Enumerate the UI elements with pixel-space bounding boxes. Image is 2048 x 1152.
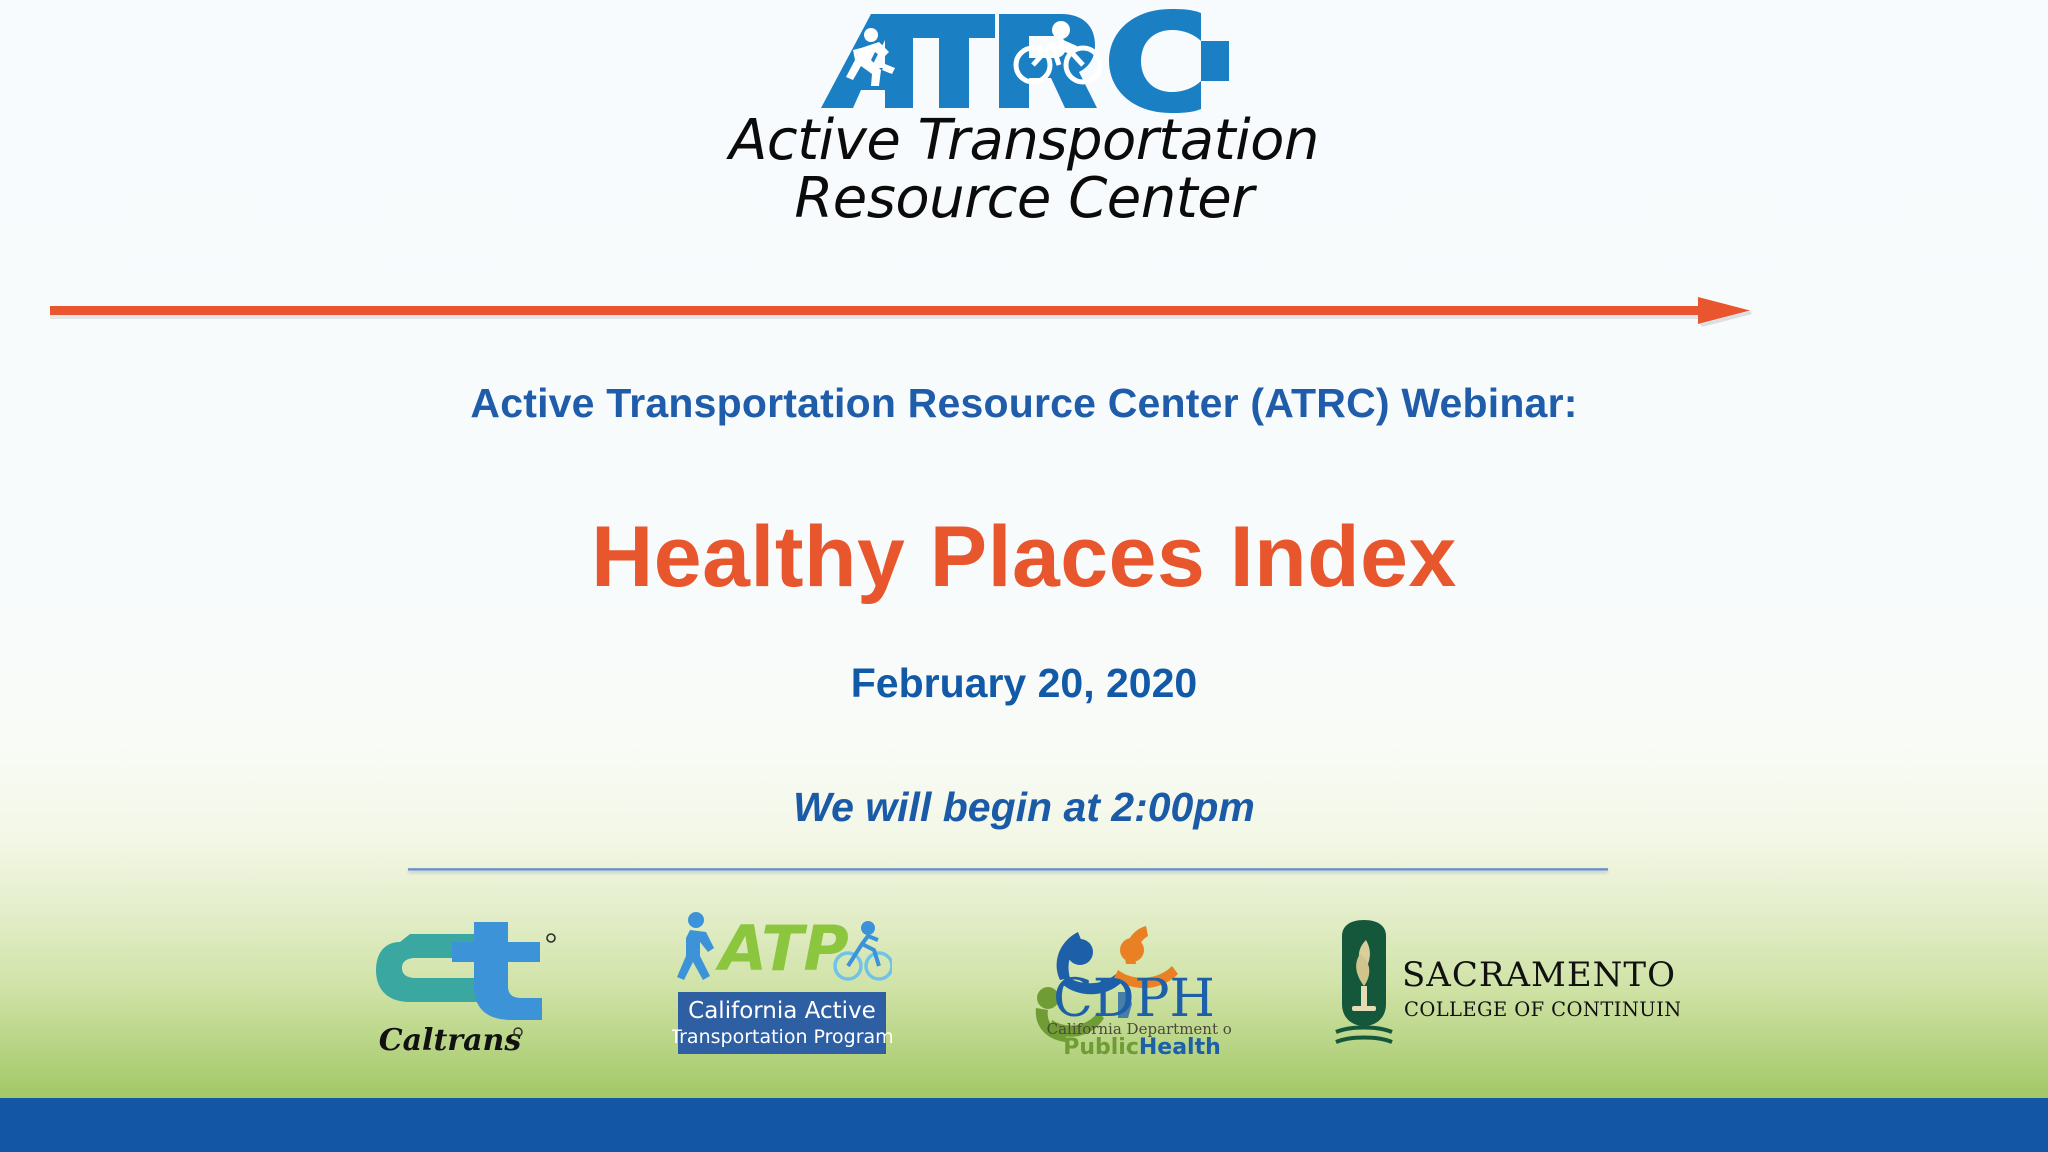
page-title: Healthy Places Index <box>0 508 2048 607</box>
shield-torch-icon <box>1336 920 1392 1042</box>
sponsor-logo-caltrans: Caltrans <box>370 900 580 1060</box>
atp-banner-line-1: California Active <box>688 998 876 1024</box>
atp-acronym: ATP <box>714 912 849 985</box>
footer-bar <box>0 1098 2048 1152</box>
sacstate-line-1: SACRAMENTO STATE <box>1402 955 1680 995</box>
horizontal-divider <box>408 868 1608 871</box>
caltrans-ct-logo: Caltrans <box>370 900 580 1060</box>
svg-text:PublicHealth: PublicHealth <box>1063 1035 1221 1060</box>
atrc-name-line-1: Active Transportation <box>0 109 2048 173</box>
sacstate-line-2: COLLEGE OF CONTINUING EDUCATION <box>1404 998 1680 1021</box>
start-time-note: We will begin at 2:00pm <box>0 784 2048 831</box>
atrc-logo: Active Transportation Resource Center <box>0 8 2048 231</box>
presentation-slide: Active Transportation Resource Center Ac… <box>0 0 2048 1152</box>
right-arrow-icon <box>50 292 1762 332</box>
cdph-logo: CDPH California Department of PublicHeal… <box>1022 900 1232 1060</box>
webinar-date: February 20, 2020 <box>0 660 2048 707</box>
webinar-subtitle: Active Transportation Resource Center (A… <box>0 380 2048 427</box>
sponsor-logo-strip: Caltrans ATP <box>0 900 2048 1060</box>
caltrans-wordmark: Caltrans <box>379 1023 522 1058</box>
atp-banner-line-2: Transportation Program <box>672 1026 892 1048</box>
atrc-wordmark-icon <box>809 8 1239 113</box>
cdph-wordmark-health: Health <box>1139 1035 1221 1060</box>
walking-person-icon <box>677 912 714 980</box>
atrc-name-line-2: Resource Center <box>0 167 2048 231</box>
cdph-wordmark-public: Public <box>1063 1035 1139 1060</box>
atp-logo: ATP California Active Transportation Pro… <box>672 900 892 1060</box>
sacstate-logo: SACRAMENTO STATE COLLEGE OF CONTINUING E… <box>1330 900 1680 1060</box>
sponsor-logo-atp: ATP California Active Transportation Pro… <box>672 900 892 1060</box>
sponsor-logo-sacramento-state: SACRAMENTO STATE COLLEGE OF CONTINUING E… <box>1330 900 1680 1060</box>
sponsor-logo-cdph: CDPH California Department of PublicHeal… <box>1022 900 1232 1060</box>
